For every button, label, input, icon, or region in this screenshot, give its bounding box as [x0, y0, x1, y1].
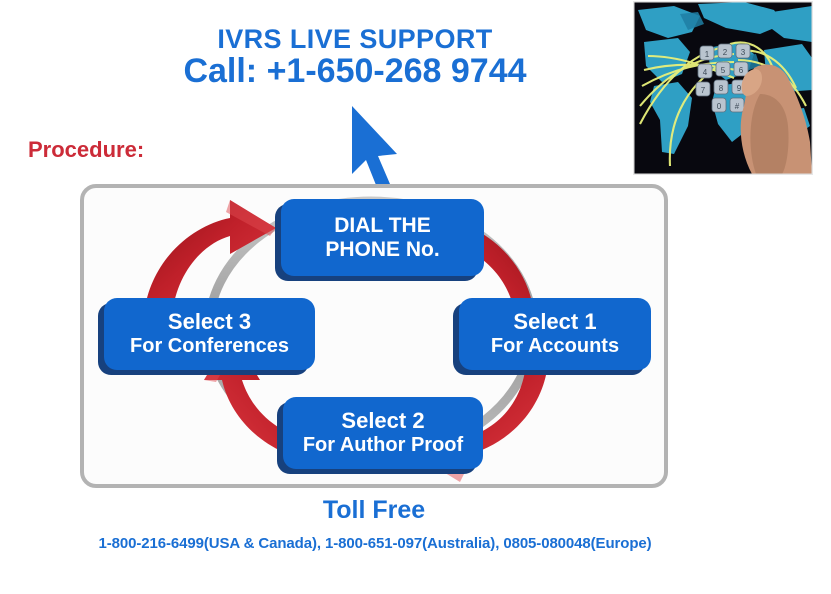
dial-the-phone-box-line2: PHONE No. — [325, 238, 439, 262]
select-2-box[interactable]: Select 2 For Author Proof — [283, 397, 483, 469]
select-2-box-line2: For Author Proof — [303, 434, 463, 456]
svg-text:9: 9 — [737, 84, 742, 93]
toll-free-label: Toll Free — [80, 496, 668, 525]
select-3-box[interactable]: Select 3 For Conferences — [104, 298, 315, 370]
select-2-box-line1: Select 2 — [341, 409, 424, 434]
select-3-box-line1: Select 3 — [168, 310, 251, 335]
svg-text:4: 4 — [703, 68, 708, 77]
globe-keypad-hand-graphic: 123 456 789 0# — [634, 2, 812, 174]
dial-the-phone-box[interactable]: DIAL THE PHONE No. — [281, 199, 484, 276]
procedure-label: Procedure: — [28, 137, 144, 163]
page-title-call-number: Call: +1-650-268 9744 — [0, 52, 710, 91]
page-title-line1: IVRS LIVE SUPPORT — [0, 24, 710, 55]
svg-text:7: 7 — [701, 86, 706, 95]
svg-text:5: 5 — [721, 66, 726, 75]
globe-keypad-hand-image: 123 456 789 0# — [634, 2, 812, 174]
select-1-box-line1: Select 1 — [513, 310, 596, 335]
svg-text:3: 3 — [741, 48, 746, 57]
svg-text:6: 6 — [739, 66, 744, 75]
svg-text:0: 0 — [717, 102, 722, 111]
dial-the-phone-box-line1: DIAL THE — [334, 214, 430, 238]
select-1-box-line2: For Accounts — [491, 335, 619, 357]
select-3-box-line2: For Conferences — [130, 335, 289, 357]
toll-free-numbers: 1-800-216-6499(USA & Canada), 1-800-651-… — [0, 535, 750, 552]
svg-text:#: # — [735, 102, 740, 111]
slide-canvas: IVRS LIVE SUPPORT Call: +1-650-268 9744 — [0, 0, 831, 594]
svg-text:1: 1 — [705, 50, 710, 59]
svg-text:2: 2 — [723, 48, 728, 57]
svg-text:8: 8 — [719, 84, 724, 93]
select-1-box[interactable]: Select 1 For Accounts — [459, 298, 651, 370]
